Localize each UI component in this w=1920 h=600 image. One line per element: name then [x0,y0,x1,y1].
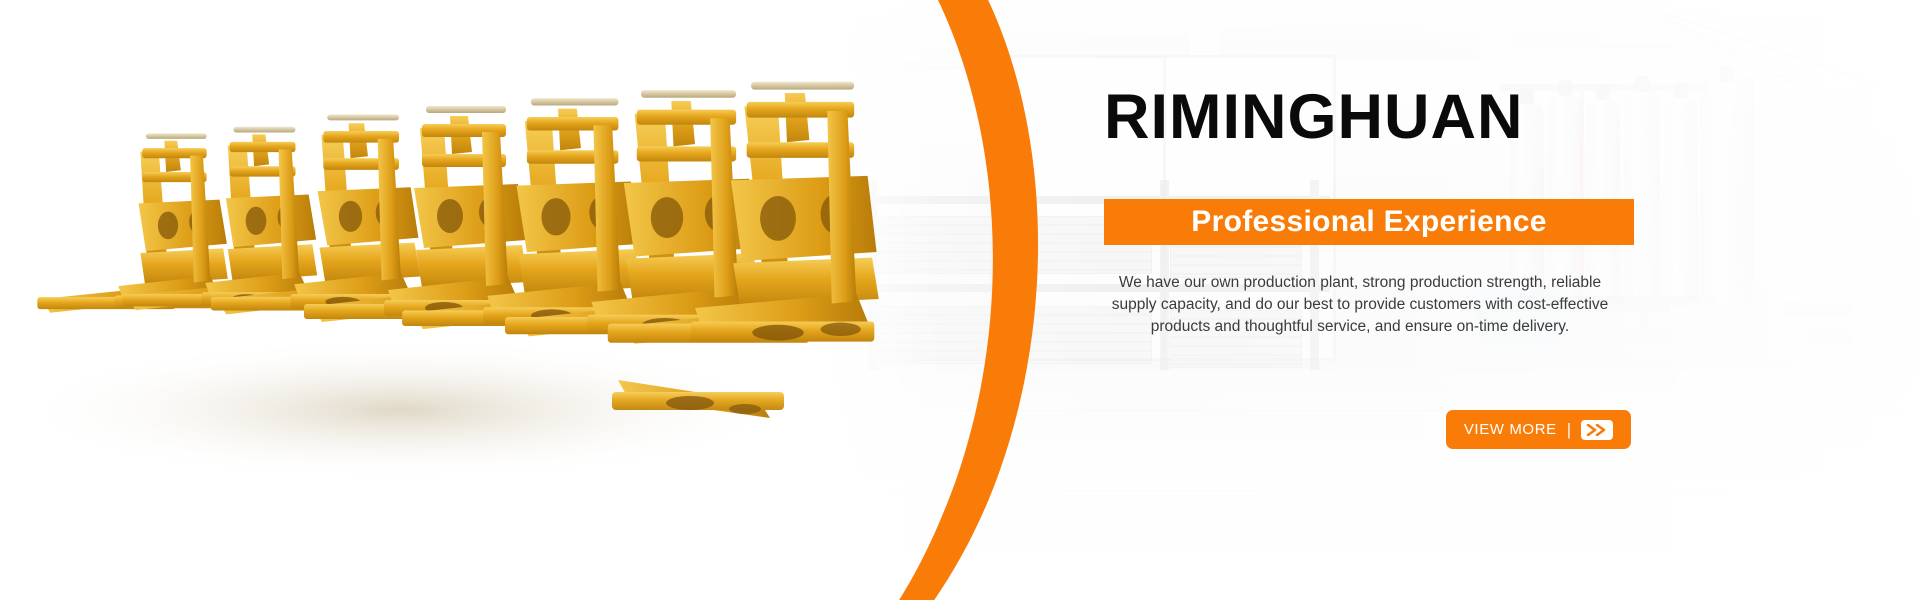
description-line-1: We have our own production plant, strong… [1028,272,1692,294]
product-photo [0,0,900,600]
description-line-2: supply capacity, and do our best to prov… [1028,294,1692,316]
description-paragraph: We have our own production plant, strong… [1028,272,1692,338]
view-more-label: VIEW MORE [1464,421,1557,438]
page-title: RIMINGHUAN [1104,86,1644,149]
description-line-3: products and thoughtful service, and ens… [1028,316,1692,338]
double-chevron-right-icon [1581,420,1613,440]
banner-content: RIMINGHUAN Professional Experience We ha… [1020,0,1700,600]
subtitle-text: Professional Experience [1104,199,1634,245]
view-more-button[interactable]: VIEW MORE | [1446,410,1631,449]
product-units-illustration [0,0,900,600]
button-separator: | [1567,420,1571,440]
subtitle-bar: Professional Experience [1104,199,1634,245]
promo-banner: RIMINGHUAN Professional Experience We ha… [0,0,1920,600]
